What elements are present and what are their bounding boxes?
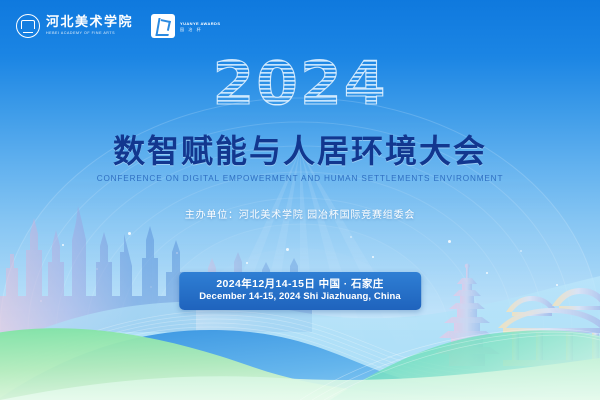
conference-poster: 河北美术学院 HEBEI ACADEMY OF FINE ARTS YUANYE… [0, 0, 600, 400]
year-heading: 2024 [0, 52, 600, 119]
date-location-cn: 2024年12月14-15日 中国 · 石家庄 [199, 277, 401, 291]
header-logos: 河北美术学院 HEBEI ACADEMY OF FINE ARTS YUANYE… [16, 14, 220, 38]
page-subtitle: CONFERENCE ON DIGITAL EMPOWERMENT AND HU… [0, 174, 600, 183]
year-2024-graphic: 2024 [205, 52, 395, 114]
date-location-en: December 14-15, 2024 Shi Jiazhuang, Chin… [199, 291, 401, 304]
date-location-badge[interactable]: 2024年12月14-15日 中国 · 石家庄 December 14-15, … [179, 272, 421, 310]
logo-hebei-cn-name: 河北美术学院 [46, 16, 133, 29]
organizer-line: 主办单位：河北美术学院 园冶杯国际竞赛组委会 [0, 206, 600, 221]
page-title: 数智赋能与人居环境大会 [0, 126, 600, 172]
logo-yuanye-en-name: YUANYE AWARDS [180, 21, 220, 26]
logo-yuanye-cn-name: 园 冶 杯 [180, 27, 220, 32]
logo-hebei-en-name: HEBEI ACADEMY OF FINE ARTS [46, 32, 133, 36]
svg-text:2024: 2024 [213, 52, 388, 114]
yuanye-square-icon [151, 14, 175, 38]
logo-hebei-academy[interactable]: 河北美术学院 HEBEI ACADEMY OF FINE ARTS [16, 14, 133, 38]
seal-emblem-icon [16, 14, 40, 38]
logo-yuanye-awards[interactable]: YUANYE AWARDS 园 冶 杯 [151, 14, 220, 38]
